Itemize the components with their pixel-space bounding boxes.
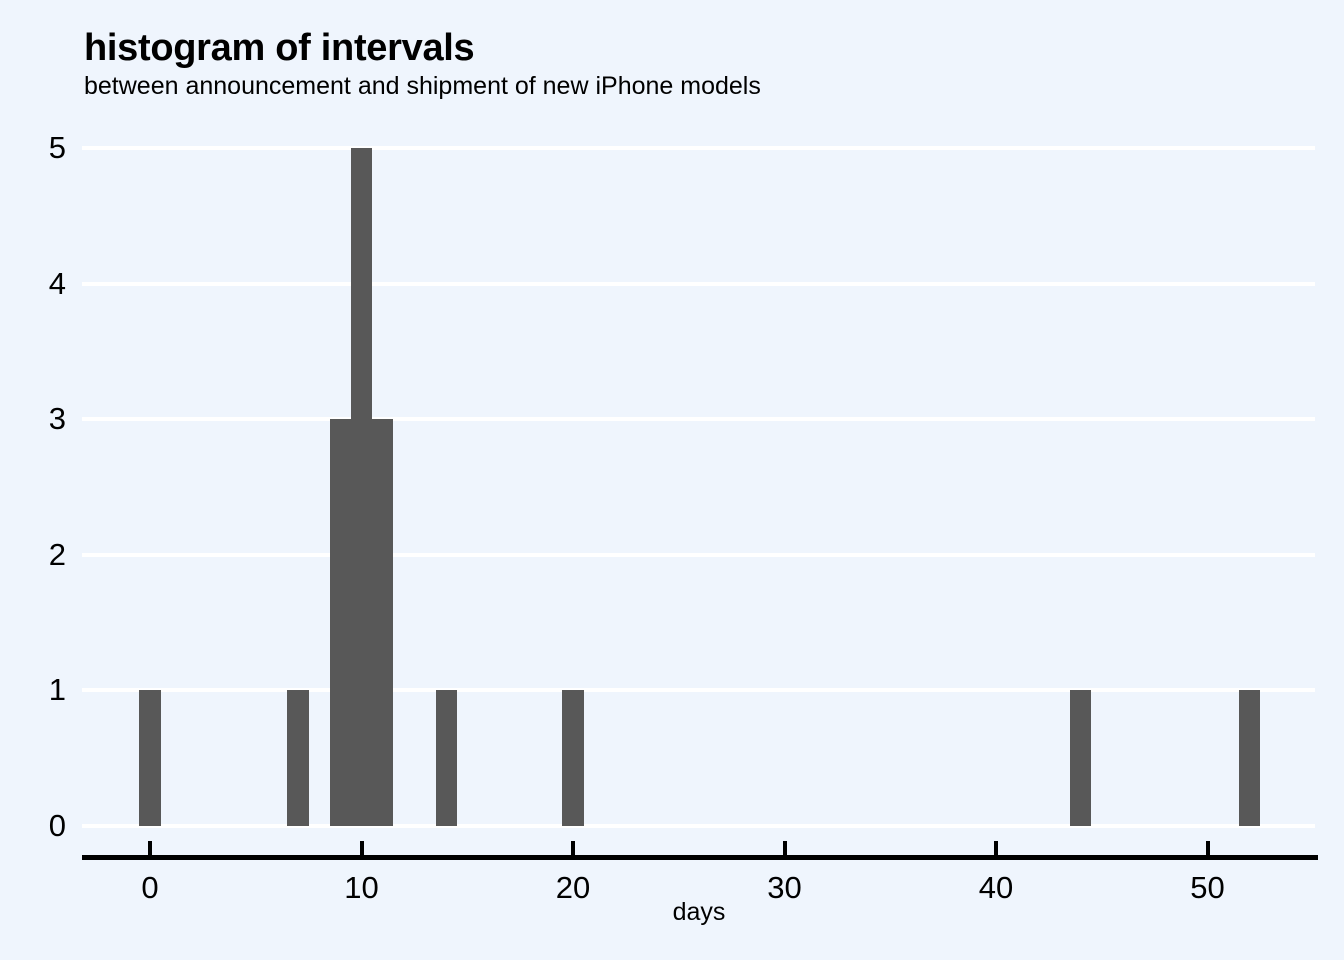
y-tick-label: 5 xyxy=(49,130,66,166)
y-tick-label: 1 xyxy=(49,672,66,708)
x-axis-line xyxy=(82,855,1318,860)
gridline xyxy=(82,824,1315,828)
gridline xyxy=(82,417,1315,421)
histogram-bar xyxy=(351,148,372,826)
x-tick-mark xyxy=(783,841,787,857)
histogram-bar xyxy=(1070,690,1091,826)
histogram-bar xyxy=(1239,690,1260,826)
gridline xyxy=(82,146,1315,150)
y-tick-label: 2 xyxy=(49,537,66,573)
y-tick-label: 3 xyxy=(49,401,66,437)
y-tick-label: 0 xyxy=(49,808,66,844)
x-tick-mark xyxy=(571,841,575,857)
x-tick-mark xyxy=(1206,841,1210,857)
histogram-bar xyxy=(372,419,393,826)
gridline xyxy=(82,282,1315,286)
histogram-bar xyxy=(287,690,308,826)
gridline xyxy=(82,553,1315,557)
chart-figure: histogram of intervals between announcem… xyxy=(0,0,1344,960)
x-axis-title-text: days xyxy=(673,898,726,926)
y-tick-label: 4 xyxy=(49,266,66,302)
chart-title: histogram of intervals xyxy=(84,26,1184,70)
histogram-bar xyxy=(330,419,351,826)
y-axis-labels: 012345 xyxy=(0,0,82,960)
x-axis-title: days xyxy=(0,898,1344,927)
gridline xyxy=(82,688,1315,692)
histogram-bar xyxy=(436,690,457,826)
title-block: histogram of intervals between announcem… xyxy=(84,26,1184,101)
x-tick-mark xyxy=(994,841,998,857)
x-tick-mark xyxy=(148,841,152,857)
histogram-bar xyxy=(139,690,160,826)
plot-area xyxy=(82,148,1315,826)
chart-subtitle: between announcement and shipment of new… xyxy=(84,71,1184,101)
histogram-bar xyxy=(562,690,583,826)
x-tick-mark xyxy=(360,841,364,857)
